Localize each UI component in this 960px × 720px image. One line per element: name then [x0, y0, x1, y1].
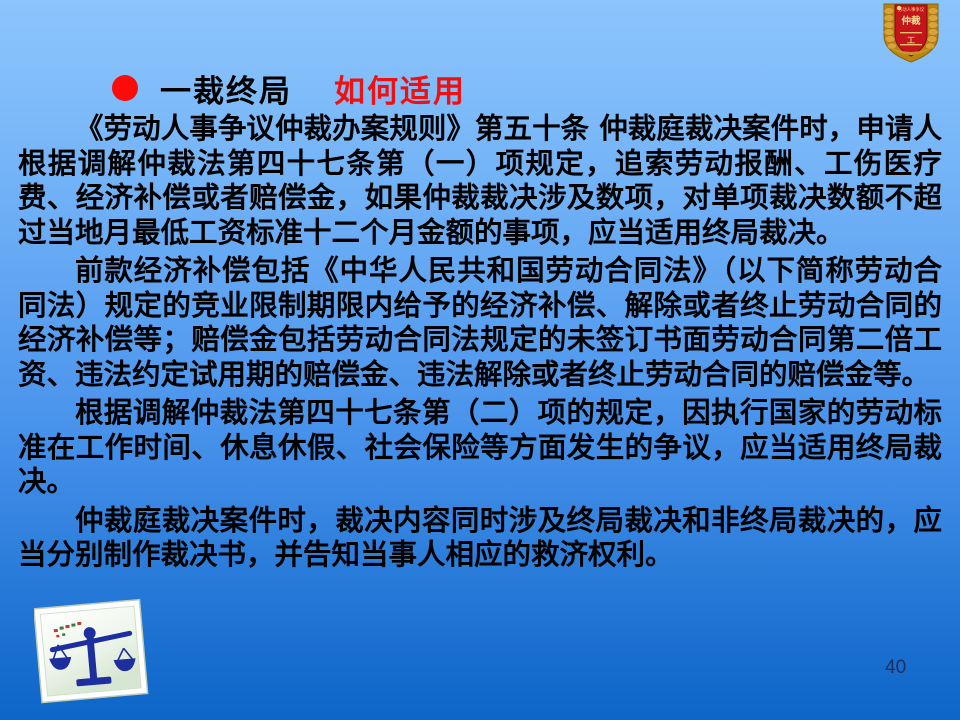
title-main-text: 一裁终局: [160, 66, 292, 111]
arbitration-emblem-icon: 劳动人事争议 仲裁 工: [874, 2, 948, 64]
body-paragraph-3: 根据调解仲裁法第四十七条第（二）项的规定，因执行国家的劳动标准在工作时间、休息休…: [18, 396, 942, 500]
body-paragraph-4: 仲裁庭裁决案件时，裁决内容同时涉及终局裁决和非终局裁决的，应当分别制作裁决书，并…: [18, 504, 942, 573]
emblem-main-text: 仲裁: [901, 15, 921, 27]
scales-of-justice-icon: [34, 598, 150, 710]
title-accent-text: 如何适用: [334, 66, 466, 111]
body-paragraph-2: 前款经济补偿包括《中华人民共和国劳动合同法》（以下简称劳动合同法）规定的竞业限制…: [18, 254, 942, 392]
slide-canvas: 一裁终局 如何适用 《劳动人事争议仲裁办案规则》第五十条 仲裁庭裁决案件时，申请…: [0, 0, 960, 720]
body-paragraph-1: 《劳动人事争议仲裁办案规则》第五十条 仲裁庭裁决案件时，申请人根据调解仲裁法第四…: [18, 112, 942, 250]
slide-title: 一裁终局 如何适用: [112, 68, 466, 108]
page-number: 40: [885, 657, 906, 679]
slide-body: 《劳动人事争议仲裁办案规则》第五十条 仲裁庭裁决案件时，申请人根据调解仲裁法第四…: [18, 112, 942, 573]
emblem-top-text: 劳动人事争议: [898, 6, 925, 13]
emblem-sub-text: 工: [907, 36, 915, 45]
red-bullet-dot-icon: [112, 75, 138, 101]
